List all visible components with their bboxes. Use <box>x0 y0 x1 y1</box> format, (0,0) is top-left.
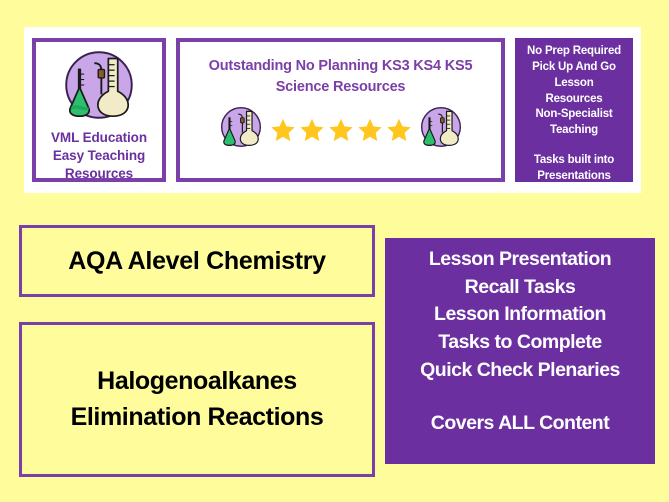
lesson-title-box: Halogenoalkanes Elimination Reactions <box>19 322 375 477</box>
star-icon-1 <box>270 117 296 143</box>
top-banner: VML Education Easy Teaching Resources Ou… <box>24 27 641 193</box>
lesson-title-line-2: Elimination Reactions <box>71 400 324 436</box>
feature-line-7: Presentations <box>516 169 632 185</box>
feature-line-1: No Prep Required <box>516 44 632 60</box>
promo-card: Outstanding No Planning KS3 KS4 KS5 Scie… <box>176 38 505 182</box>
contents-panel: Lesson Presentation Recall Tasks Lesson … <box>385 238 655 464</box>
star-icon-3 <box>328 117 354 143</box>
star-rating <box>270 117 412 143</box>
feature-line-4: Non-Specialist <box>516 107 632 123</box>
flask-logo-icon <box>60 46 138 129</box>
feature-line-2: Pick Up And Go Lesson <box>516 60 632 92</box>
lesson-title-line-1: Halogenoalkanes <box>97 364 297 400</box>
contents-item-3: Lesson Information <box>434 301 606 329</box>
promo-headline: Outstanding No Planning KS3 KS4 KS5 Scie… <box>191 56 491 98</box>
feature-line-6: Tasks built into <box>516 153 632 169</box>
promo-headline-line-2: Science Resources <box>191 77 491 98</box>
feature-line-3: Resources <box>516 92 632 108</box>
star-icon-2 <box>299 117 325 143</box>
features-block-primary: No Prep Required Pick Up And Go Lesson R… <box>516 44 632 139</box>
banner-features-strip: No Prep Required Pick Up And Go Lesson R… <box>515 38 633 182</box>
features-block-secondary: Tasks built into Presentations <box>516 153 632 185</box>
feature-line-5: Teaching <box>516 123 632 139</box>
brand-logo-card: VML Education Easy Teaching Resources <box>32 38 166 182</box>
star-icon-5 <box>386 117 412 143</box>
contents-item-2: Recall Tasks <box>465 274 576 302</box>
brand-line-3: Resources <box>51 165 147 183</box>
brand-line-1: VML Education <box>51 129 147 147</box>
contents-item-1: Lesson Presentation <box>429 246 611 274</box>
brand-line-2: Easy Teaching <box>51 147 147 165</box>
star-icon-4 <box>357 117 383 143</box>
exam-board-label: AQA Alevel Chemistry <box>68 247 326 276</box>
contents-footer: Covers ALL Content <box>431 410 609 438</box>
promo-headline-line-1: Outstanding No Planning KS3 KS4 KS5 <box>191 56 491 77</box>
contents-item-5: Quick Check Plenaries <box>420 357 620 385</box>
promo-rating-row <box>180 104 501 155</box>
brand-name-block: VML Education Easy Teaching Resources <box>51 129 147 182</box>
flask-logo-icon-right <box>418 104 464 155</box>
exam-board-box: AQA Alevel Chemistry <box>19 225 375 297</box>
flask-logo-icon-left <box>218 104 264 155</box>
contents-item-4: Tasks to Complete <box>438 329 601 357</box>
